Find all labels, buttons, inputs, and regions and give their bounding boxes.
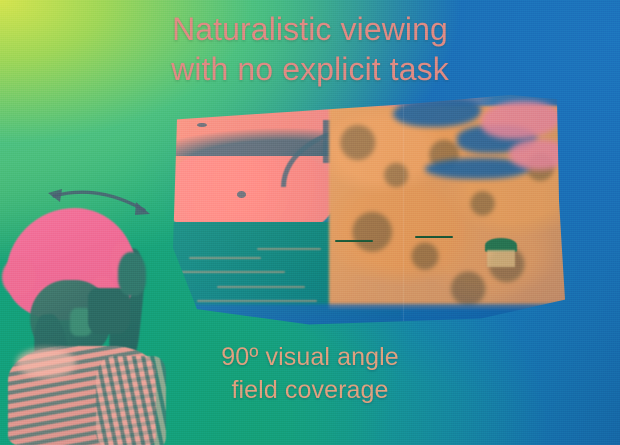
film-grain-overlay [0, 0, 620, 445]
presentation-slide: Naturalistic viewing with no explicit ta… [0, 0, 620, 445]
